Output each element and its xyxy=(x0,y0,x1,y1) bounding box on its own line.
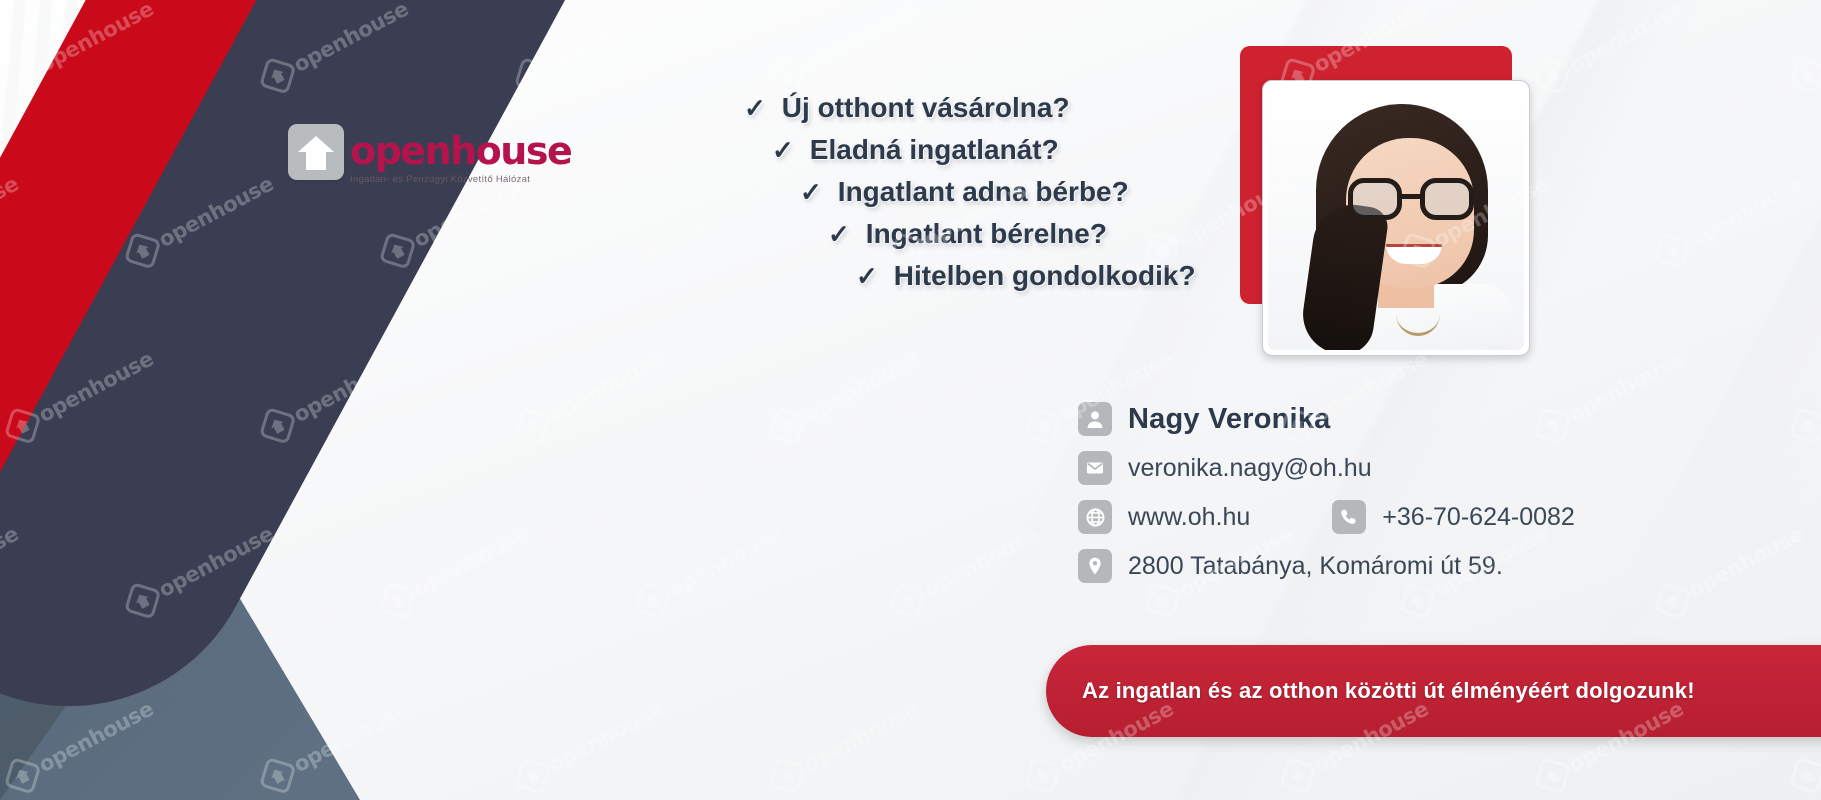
watermark-house-icon xyxy=(1024,407,1061,444)
watermark: openhouse xyxy=(1532,0,1688,96)
watermark-text: openhouse xyxy=(800,697,923,777)
checklist-item-label: Ingatlant adna bérbe? xyxy=(838,176,1129,208)
watermark: openhouse xyxy=(767,0,923,96)
map-pin-icon xyxy=(1078,549,1112,583)
watermark: openhouse xyxy=(767,694,923,796)
agent-glasses xyxy=(1348,178,1474,220)
person-legs xyxy=(294,382,597,592)
check-icon: ✓ xyxy=(772,135,794,166)
watermark-text: openhouse xyxy=(1685,522,1808,602)
person-icon xyxy=(1078,402,1112,436)
window-sill xyxy=(345,258,645,274)
watermark-house-icon xyxy=(634,232,671,269)
contact-row-email[interactable]: veronika.nagy@oh.hu xyxy=(1078,451,1698,485)
agent-photo-image xyxy=(1268,86,1524,350)
watermark-house-icon xyxy=(634,582,671,619)
checklist-item-label: Új otthont vásárolna? xyxy=(782,92,1070,124)
watermark-house-icon xyxy=(1789,757,1821,794)
watermark: openhouse xyxy=(512,344,668,446)
watermark-house-icon xyxy=(514,407,551,444)
watermark-text: openhouse xyxy=(1565,0,1688,77)
logo-tagline: Ingatlan- és Pénzügyi Közvetítő Hálózat xyxy=(350,174,571,185)
check-icon: ✓ xyxy=(744,93,766,124)
watermark: openhouse xyxy=(887,519,1043,621)
contact-row-web-phone: www.oh.hu +36-70-624-0082 xyxy=(1078,500,1698,534)
check-icon: ✓ xyxy=(800,177,822,208)
watermark: openhouse xyxy=(377,519,533,621)
check-icon: ✓ xyxy=(856,261,878,292)
watermark-text: openhouse xyxy=(545,0,668,77)
checklist-item-label: Eladná ingatlanát? xyxy=(810,134,1059,166)
checklist-item-label: Ingatlant bérelne? xyxy=(866,218,1107,250)
ottoman xyxy=(530,480,760,730)
house-icon xyxy=(288,124,344,180)
watermark-house-icon xyxy=(769,407,806,444)
watermark-house-icon xyxy=(1279,757,1316,794)
agent-website[interactable]: www.oh.hu xyxy=(1128,503,1250,532)
sofa-leg xyxy=(418,588,442,630)
watermark-house-icon xyxy=(1534,757,1571,794)
watermark-house-icon xyxy=(1534,57,1571,94)
watermark: openhouse xyxy=(632,519,788,621)
agent-phone[interactable]: +36-70-624-0082 xyxy=(1382,503,1575,532)
agent-address: 2800 Tatabánya, Komáromi út 59. xyxy=(1128,552,1503,581)
slogan-banner: Az ingatlan és az otthon közötti út élmé… xyxy=(1046,645,1821,737)
watermark-text: openhouse xyxy=(1055,0,1178,77)
envelope-icon xyxy=(1078,451,1112,485)
watermark: openhouse xyxy=(1787,344,1821,446)
cardboard-box xyxy=(298,466,531,670)
watermark-text: openhouse xyxy=(545,697,668,777)
watermark: openhouse xyxy=(512,694,668,796)
watermark-text: openhouse xyxy=(920,522,1043,602)
watermark-house-icon xyxy=(379,582,416,619)
agent-portrait xyxy=(1240,46,1530,346)
watermark-text: openhouse xyxy=(800,347,923,427)
watermark: openhouse xyxy=(767,344,923,446)
watermark-house-icon xyxy=(769,757,806,794)
agent-email[interactable]: veronika.nagy@oh.hu xyxy=(1128,454,1372,483)
watermark-text: openhouse xyxy=(800,0,923,77)
watermark-house-icon xyxy=(1654,232,1691,269)
globe-icon xyxy=(1078,500,1112,534)
watermark: openhouse xyxy=(1652,169,1808,271)
watermark-house-icon xyxy=(889,582,926,619)
contact-details: Nagy Veronika veronika.nagy@oh.hu www.oh… xyxy=(1078,402,1698,598)
watermark: openhouse xyxy=(1787,0,1821,96)
contact-row-name: Nagy Veronika xyxy=(1078,402,1698,436)
watermark-house-icon xyxy=(1789,57,1821,94)
phone-icon xyxy=(1332,500,1366,534)
watermark-house-icon xyxy=(514,57,551,94)
watermark-text: openhouse xyxy=(1685,172,1808,252)
laptop-screen xyxy=(361,338,498,461)
openhouse-logo[interactable]: openhouse Ingatlan- és Pénzügyi Közvetít… xyxy=(288,124,571,185)
logo-wordmark: openhouse xyxy=(350,132,571,170)
watermark-house-icon xyxy=(769,57,806,94)
cardboard-box xyxy=(394,312,595,495)
agent-name: Nagy Veronika xyxy=(1128,403,1330,436)
check-icon: ✓ xyxy=(828,219,850,250)
laptop-base xyxy=(341,430,499,487)
watermark-text: openhouse xyxy=(410,522,533,602)
watermark-house-icon xyxy=(1024,57,1061,94)
photo-frame xyxy=(1262,80,1530,356)
watermark-house-icon xyxy=(514,757,551,794)
watermark-house-icon xyxy=(1789,407,1821,444)
watermark-text: openhouse xyxy=(665,522,788,602)
advertisement-banner: openhouse Ingatlan- és Pénzügyi Közvetít… xyxy=(0,0,1821,800)
watermark-text: openhouse xyxy=(545,347,668,427)
contact-row-address: 2800 Tatabánya, Komáromi út 59. xyxy=(1078,549,1698,583)
radiator xyxy=(370,272,640,387)
house-glyph xyxy=(296,132,336,172)
watermark-house-icon xyxy=(1024,757,1061,794)
slogan-text: Az ingatlan és az otthon közötti út élmé… xyxy=(1082,678,1695,704)
checklist-item-label: Hitelben gondolkodik? xyxy=(894,260,1196,292)
watermark: openhouse xyxy=(1022,0,1178,96)
